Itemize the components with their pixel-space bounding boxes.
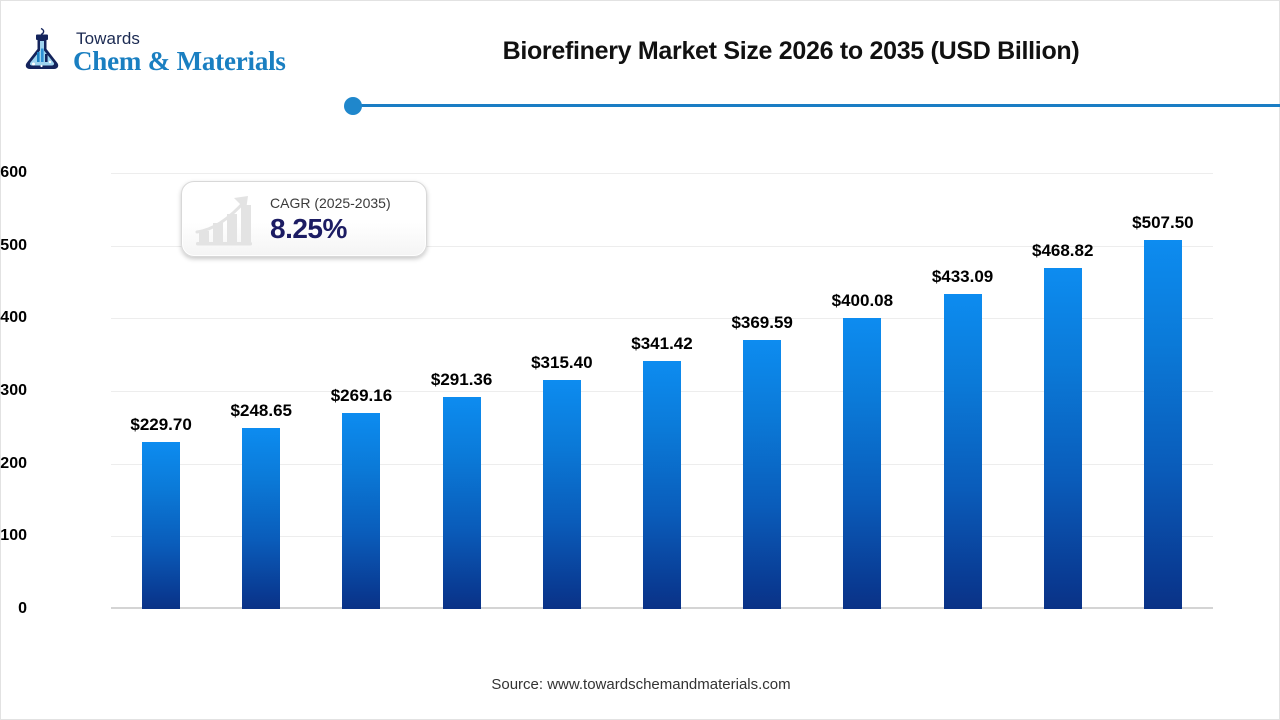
bar[interactable] xyxy=(643,361,681,609)
bar-value-label: $433.09 xyxy=(897,267,1029,287)
cagr-value: 8.25% xyxy=(270,213,391,245)
brand-wordmark: Towards Chem & Materials xyxy=(73,30,286,75)
bar-column[interactable]: $433.09 xyxy=(912,173,1012,609)
bar[interactable] xyxy=(944,294,982,609)
y-axis-tick-label: 100 xyxy=(0,527,27,545)
brand-line-chem-materials: Chem & Materials xyxy=(73,48,286,75)
y-axis-tick-label: 600 xyxy=(0,164,27,182)
bar-value-label: $291.36 xyxy=(396,370,528,390)
bar-value-label: $400.08 xyxy=(796,291,928,311)
bar-value-label: $315.40 xyxy=(496,353,628,373)
bar-column[interactable]: $468.82 xyxy=(1013,173,1113,609)
bar-value-label: $341.42 xyxy=(596,334,728,354)
rule-dot-icon xyxy=(344,97,362,115)
y-axis-tick-label: 300 xyxy=(0,382,27,400)
cagr-badge: CAGR (2025-2035) 8.25% xyxy=(181,181,427,257)
y-axis-tick-label: 0 xyxy=(0,600,27,618)
y-axis-tick-label: 500 xyxy=(0,237,27,255)
brand-line-towards: Towards xyxy=(76,30,286,47)
cagr-text-block: CAGR (2025-2035) 8.25% xyxy=(270,195,391,245)
bar[interactable] xyxy=(843,318,881,609)
page-title: Biorefinery Market Size 2026 to 2035 (US… xyxy=(351,37,1231,66)
cagr-period-label: CAGR (2025-2035) xyxy=(270,195,391,211)
bar-column[interactable]: $315.40 xyxy=(512,173,612,609)
bar-column[interactable]: $369.59 xyxy=(712,173,812,609)
bar[interactable] xyxy=(1144,240,1182,609)
bar-column[interactable]: $507.50 xyxy=(1113,173,1213,609)
page-header: Towards Chem & Materials Biorefinery Mar… xyxy=(1,1,1280,101)
header-divider-line xyxy=(353,104,1280,107)
bar[interactable] xyxy=(242,428,280,609)
bar[interactable] xyxy=(1044,268,1082,609)
bar[interactable] xyxy=(743,340,781,609)
bar[interactable] xyxy=(443,397,481,609)
y-axis-tick-label: 200 xyxy=(0,455,27,473)
growth-bar-chart-icon xyxy=(190,190,260,250)
bar-column[interactable]: $400.08 xyxy=(812,173,912,609)
bar[interactable] xyxy=(543,380,581,609)
bar-value-label: $468.82 xyxy=(997,241,1129,261)
bar[interactable] xyxy=(342,413,380,609)
header-divider xyxy=(344,97,1280,115)
flask-icon xyxy=(19,27,65,77)
y-axis-tick-label: 400 xyxy=(0,309,27,327)
source-note: Source: www.towardschemandmaterials.com xyxy=(1,676,1280,693)
bar-value-label: $507.50 xyxy=(1097,213,1229,233)
bar-value-label: $369.59 xyxy=(696,313,828,333)
brand-logo[interactable]: Towards Chem & Materials xyxy=(19,27,286,77)
chart-page: Towards Chem & Materials Biorefinery Mar… xyxy=(0,0,1280,720)
bar-column[interactable]: $341.42 xyxy=(612,173,712,609)
bar[interactable] xyxy=(142,442,180,609)
